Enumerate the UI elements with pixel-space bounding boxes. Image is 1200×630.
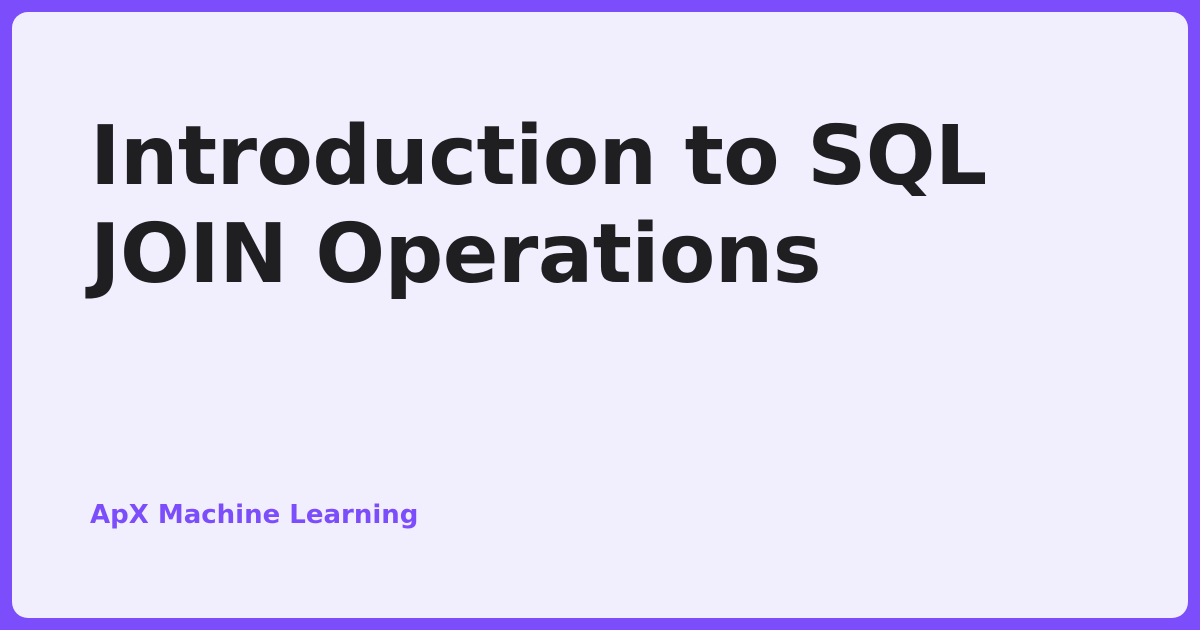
og-share-card: Introduction to SQL JOIN Operations ApX …	[0, 0, 1200, 630]
page-title: Introduction to SQL JOIN Operations	[90, 108, 1050, 304]
card-surface: Introduction to SQL JOIN Operations ApX …	[12, 12, 1188, 618]
brand-footer: ApX Machine Learning	[90, 500, 418, 530]
brand-name: ApX Machine Learning	[90, 500, 418, 530]
